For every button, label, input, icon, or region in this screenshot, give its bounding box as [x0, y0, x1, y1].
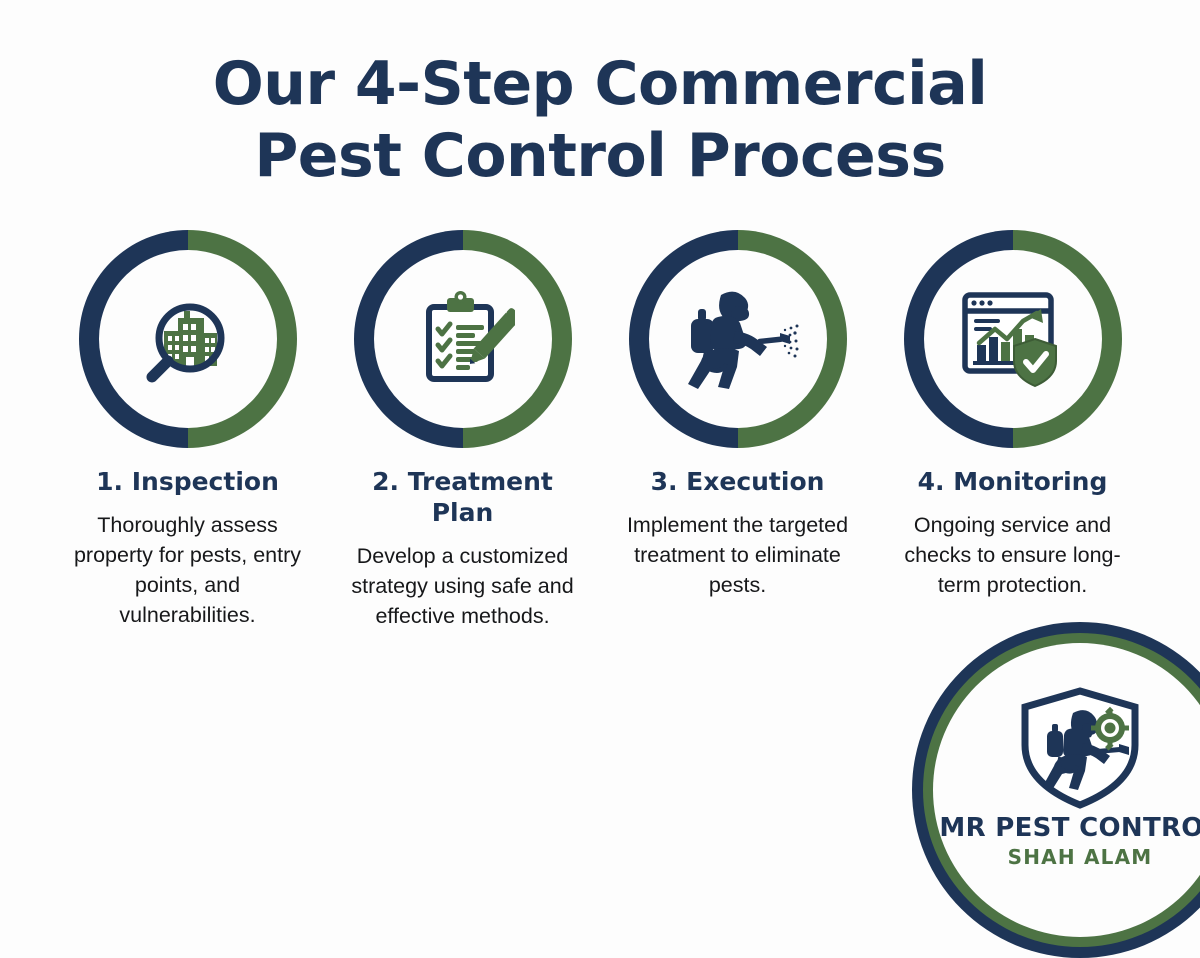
step-2-treatment-plan: 2. Treatment Plan Develop a customized s…: [325, 230, 600, 631]
step-4-title: 4. Monitoring: [918, 466, 1108, 497]
brand-logo: MR PEST CONTROL SHAH ALAM: [912, 622, 1200, 958]
dashboard-chart-shield-icon: [904, 230, 1122, 448]
step-2-ring: [354, 230, 572, 448]
brand-logo-inner: MR PEST CONTROL SHAH ALAM: [933, 643, 1200, 937]
step-2-title: 2. Treatment Plan: [343, 466, 583, 528]
pest-control-sprayer-worker-icon: [629, 230, 847, 448]
page-title-line-2: Pest Control Process: [0, 120, 1200, 192]
shield-pest-worker-icon: [1017, 687, 1143, 809]
step-4-ring: [904, 230, 1122, 448]
page-title-line-1: Our 4-Step Commercial: [0, 48, 1200, 120]
step-3-title: 3. Execution: [651, 466, 825, 497]
step-1-inspection: 1. Inspection Thoroughly assess property…: [50, 230, 325, 630]
brand-name: MR PEST CONTROL: [939, 813, 1200, 843]
step-4-monitoring: 4. Monitoring Ongoing service and checks…: [875, 230, 1150, 600]
step-3-ring: [629, 230, 847, 448]
page-title: Our 4-Step Commercial Pest Control Proce…: [0, 48, 1200, 192]
clipboard-checklist-pencil-icon: [354, 230, 572, 448]
step-3-execution: 3. Execution Implement the targeted trea…: [600, 230, 875, 600]
magnifying-glass-buildings-icon: [79, 230, 297, 448]
step-1-description: Thoroughly assess property for pests, en…: [70, 510, 305, 630]
step-2-description: Develop a customized strategy using safe…: [345, 541, 580, 631]
step-3-description: Implement the targeted treatment to elim…: [620, 510, 855, 600]
step-1-ring: [79, 230, 297, 448]
process-steps: 1. Inspection Thoroughly assess property…: [0, 230, 1200, 631]
step-4-description: Ongoing service and checks to ensure lon…: [895, 510, 1130, 600]
brand-subtitle: SHAH ALAM: [1008, 845, 1153, 869]
step-1-title: 1. Inspection: [96, 466, 279, 497]
